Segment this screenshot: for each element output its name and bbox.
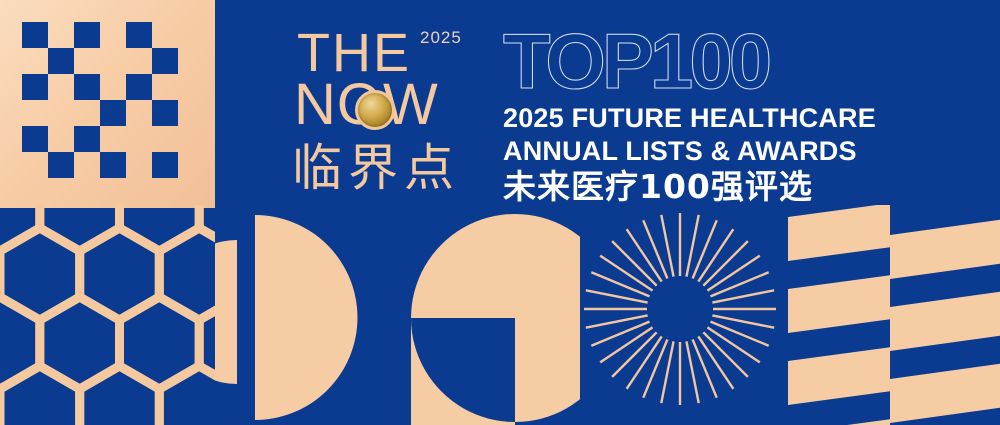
checkerboard-cell [152, 152, 178, 178]
hexagon-cell [0, 366, 80, 425]
checkerboard-cell [100, 100, 126, 126]
hexagon-cell [120, 205, 200, 251]
hexagon-lattice-pattern [0, 205, 215, 425]
diagonal-stripes-pattern [780, 205, 1000, 425]
hexagon-cell [159, 366, 215, 425]
checkerboard-block [0, 0, 215, 208]
logo-year-badge: 2025 [420, 28, 462, 48]
checkerboard-cell [22, 126, 48, 152]
half-circle-left [215, 240, 237, 384]
award-subtitle-line2: ANNUAL LISTS & AWARDS [503, 137, 973, 166]
hexagon-cell [80, 366, 160, 425]
checkerboard-cell [74, 74, 100, 100]
checkerboard-cell [74, 126, 100, 152]
notched-circle [411, 214, 580, 425]
gold-orb-icon [355, 90, 395, 130]
award-subtitle-chinese: 未来医疗100强评选 [503, 169, 973, 205]
logo-chinese-text: 临界点 [292, 140, 460, 196]
sunburst-pattern [580, 205, 780, 425]
poster-canvas: THE 2025 NOW 临界点 TOP100 2025 FUTURE HEAL… [0, 0, 1000, 425]
checkerboard-cell [48, 48, 74, 74]
checkerboard-cell [48, 152, 74, 178]
checkerboard-cell [100, 152, 126, 178]
d-shape [255, 215, 357, 420]
award-headline: TOP100 2025 FUTURE HEALTHCARE ANNUAL LIS… [503, 22, 973, 205]
checkerboard-cell [152, 100, 178, 126]
checkerboard-cell [126, 22, 152, 48]
semicircle-shapes [215, 205, 580, 425]
brand-logo: THE 2025 NOW 临界点 [292, 18, 487, 198]
top100-outline-title: TOP100 [503, 22, 973, 100]
checkerboard-pattern [22, 22, 182, 182]
checkerboard-cell [74, 22, 100, 48]
checkerboard-cell [22, 74, 48, 100]
decorative-band [0, 205, 1000, 425]
checkerboard-cell [126, 74, 152, 100]
checkerboard-cell [22, 22, 48, 48]
award-subtitle-line1: 2025 FUTURE HEALTHCARE [503, 104, 973, 133]
hexagon-cell [40, 205, 120, 251]
checkerboard-cell [152, 48, 178, 74]
